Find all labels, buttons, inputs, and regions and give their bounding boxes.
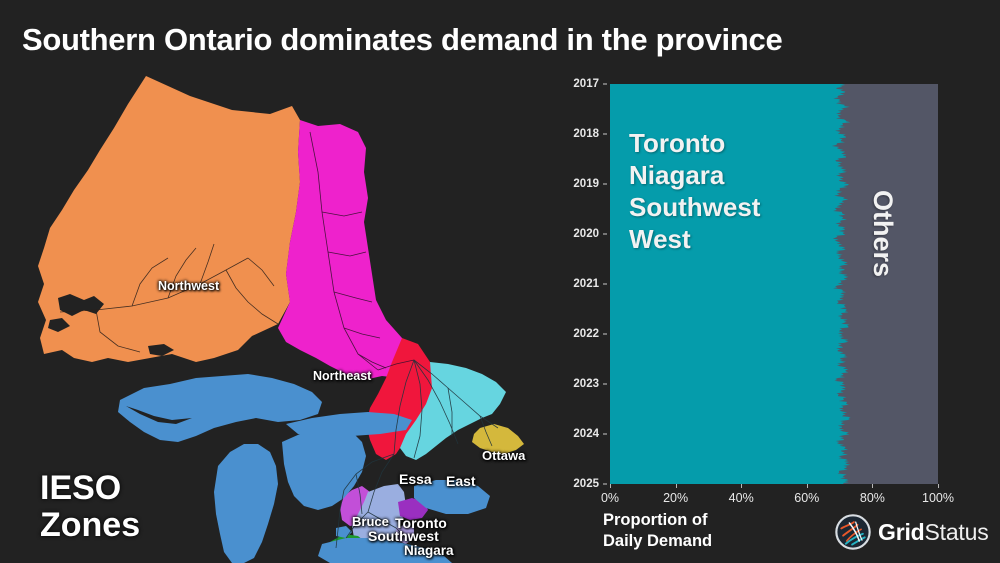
x-tick-label-0: 0% (601, 491, 619, 505)
ieso-zones-map: Northwest Northeast Essa East Ottawa Bru… (0, 62, 545, 563)
x-tick-mark-40 (741, 484, 742, 488)
chart-y-axis: 201720182019202020212022202320242025 (545, 62, 607, 506)
x-tick-mark-100 (938, 484, 939, 488)
series-label-line-3: West (629, 224, 760, 256)
y-tick-label-2024: 2024 (573, 428, 599, 440)
y-tick-label-2017: 2017 (573, 78, 599, 90)
x-tick-label-60: 60% (794, 491, 819, 505)
y-tick-mark-2018 (603, 134, 607, 135)
y-tick-label-2025: 2025 (573, 478, 599, 490)
y-tick-mark-2019 (603, 184, 607, 185)
screenshot-root: Southern Ontario dominates demand in the… (0, 0, 1000, 563)
map-overlay-title-line1: IESO (40, 470, 140, 507)
series-label-toronto-group: TorontoNiagaraSouthwestWest (629, 128, 760, 256)
y-tick-label-2023: 2023 (573, 378, 599, 390)
x-tick-mark-0 (610, 484, 611, 488)
map-overlay-title: IESO Zones (40, 470, 140, 543)
demand-proportion-chart: 201720182019202020212022202320242025 0%2… (545, 62, 1000, 563)
axis-caption-line2: Daily Demand (603, 531, 712, 552)
chart-x-axis-caption: Proportion of Daily Demand (603, 510, 712, 552)
y-tick-mark-2022 (603, 334, 607, 335)
y-tick-label-2022: 2022 (573, 328, 599, 340)
gridstatus-logo-icon (835, 514, 871, 550)
x-tick-label-100: 100% (922, 491, 954, 505)
y-tick-label-2018: 2018 (573, 128, 599, 140)
y-tick-mark-2021 (603, 284, 607, 285)
page-title: Southern Ontario dominates demand in the… (22, 22, 782, 58)
series-label-line-1: Niagara (629, 160, 760, 192)
y-tick-label-2020: 2020 (573, 228, 599, 240)
gridstatus-logo: GridStatus (835, 514, 989, 550)
map-overlay-title-line2: Zones (40, 507, 140, 544)
y-tick-mark-2020 (603, 234, 607, 235)
logo-word-grid: Grid (878, 519, 924, 545)
series-label-others: Others (867, 190, 898, 277)
y-tick-mark-2025 (603, 484, 607, 485)
series-label-line-0: Toronto (629, 128, 760, 160)
y-tick-mark-2024 (603, 434, 607, 435)
y-tick-label-2021: 2021 (573, 278, 599, 290)
x-tick-label-40: 40% (729, 491, 754, 505)
gridstatus-logo-text: GridStatus (878, 519, 989, 546)
y-tick-label-2019: 2019 (573, 178, 599, 190)
logo-word-status: Status (924, 519, 988, 545)
x-tick-mark-60 (807, 484, 808, 488)
x-tick-mark-20 (676, 484, 677, 488)
x-tick-label-80: 80% (860, 491, 885, 505)
x-tick-mark-80 (872, 484, 873, 488)
axis-caption-line1: Proportion of (603, 510, 712, 531)
y-tick-mark-2017 (603, 84, 607, 85)
series-label-line-2: Southwest (629, 192, 760, 224)
y-tick-mark-2023 (603, 384, 607, 385)
x-tick-label-20: 20% (663, 491, 688, 505)
